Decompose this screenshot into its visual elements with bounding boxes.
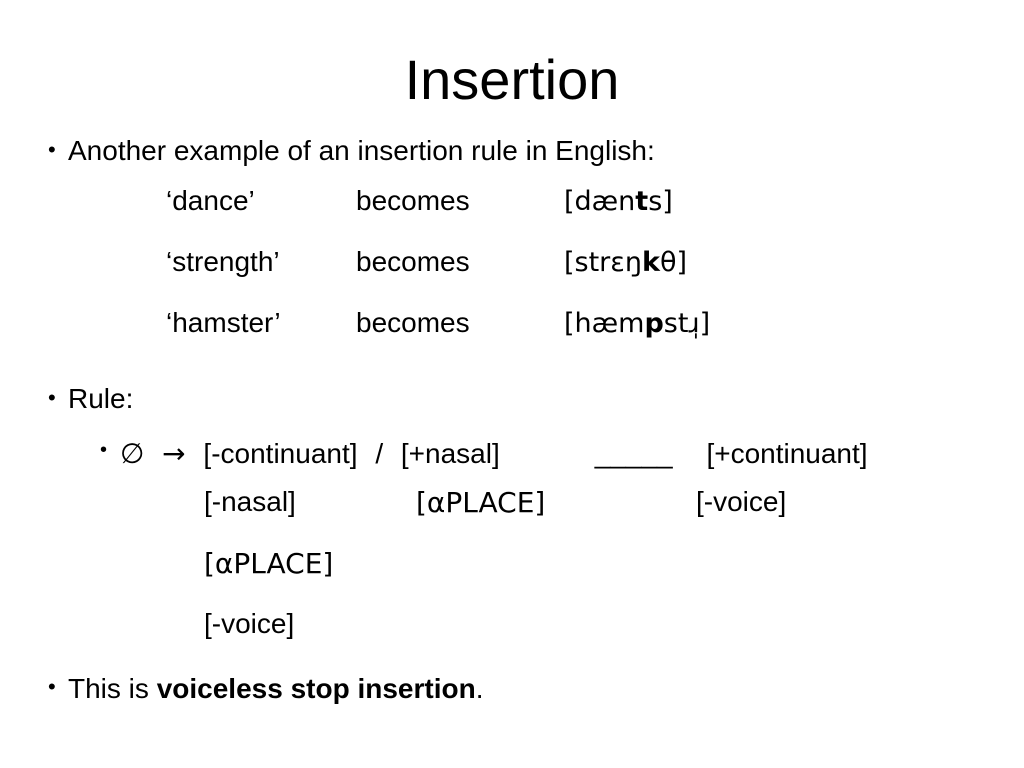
example-transcription: [dænts] [564,186,673,217]
rule-label-bullet: • Rule: [48,384,976,415]
slide: Insertion • Another example of an insert… [0,0,1024,768]
rule-formula: ∅ → [-continuant] / [+nasal] _____ [+con… [120,437,868,470]
env-right-2: [-voice] [696,486,936,518]
env-left-1: [+nasal] [401,438,561,470]
rule-row-3: [αPLACE] [204,547,976,608]
rule-row-2: [-nasal] [αPLACE] [-voice] [204,486,976,547]
rule-block: • Rule: • ∅ → [-continuant] / [+nasal] _… [48,384,976,669]
intro-bullet-text: Another example of an insertion rule in … [68,136,655,167]
rule-label-text: Rule: [68,384,133,415]
page-title: Insertion [0,0,1024,108]
examples-list: ‘dance’ becomes [dænts] ‘strength’ becom… [166,185,976,368]
slide-body: • Another example of an insertion rule i… [0,136,1024,705]
example-word: ‘strength’ [166,246,356,278]
conclusion-bullet: • This is voiceless stop insertion. [48,673,976,705]
transcription-bold: k [642,247,660,278]
env-left-2: [-nasal] [204,486,416,518]
example-row: ‘strength’ becomes [strɛŋkθ] [166,246,976,307]
transcription-pre: [hæm [564,308,644,339]
example-transcription: [hæmpstɹ̩] [564,308,710,339]
example-row: ‘hamster’ becomes [hæmpstɹ̩] [166,307,976,368]
env-right-1: [+continuant] [706,438,867,470]
null-symbol: ∅ [120,437,144,470]
rule-row-4: [-voice] [204,608,976,669]
transcription-post: stɹ̩] [664,308,710,339]
example-row: ‘dance’ becomes [dænts] [166,185,976,246]
bullet-dot-icon: • [48,673,68,701]
intro-bullet: • Another example of an insertion rule i… [48,136,976,167]
env-mid-2: [αPLACE] [416,486,696,519]
example-verb: becomes [356,185,564,217]
bullet-dot-icon: • [100,437,120,463]
conclusion-emphasis: voiceless stop insertion [157,673,476,704]
transcription-post: s] [648,186,673,217]
env-left-3: [αPLACE] [204,547,416,580]
transcription-bold: p [644,308,663,339]
bullet-dot-icon: • [48,136,68,164]
example-word: ‘dance’ [166,185,356,217]
env-left-4: [-voice] [204,608,416,640]
rule-formula-line: • ∅ → [-continuant] / [+nasal] _____ [+c… [100,437,976,470]
bullet-dot-icon: • [48,384,68,412]
arrow-icon: → [162,437,185,470]
example-verb: becomes [356,307,564,339]
conclusion-prefix: This is [68,673,157,704]
rule-target: [-continuant] [203,438,357,470]
rule-slash: / [375,438,383,470]
example-word: ‘hamster’ [166,307,356,339]
transcription-bold: t [635,186,648,217]
rule-blank: _____ [569,438,699,470]
conclusion-text: This is voiceless stop insertion. [68,673,483,705]
conclusion-suffix: . [476,673,484,704]
example-transcription: [strɛŋkθ] [564,247,687,278]
transcription-post: θ] [660,247,687,278]
example-verb: becomes [356,246,564,278]
transcription-pre: [strɛŋ [564,247,642,278]
transcription-pre: [dæn [564,186,635,217]
